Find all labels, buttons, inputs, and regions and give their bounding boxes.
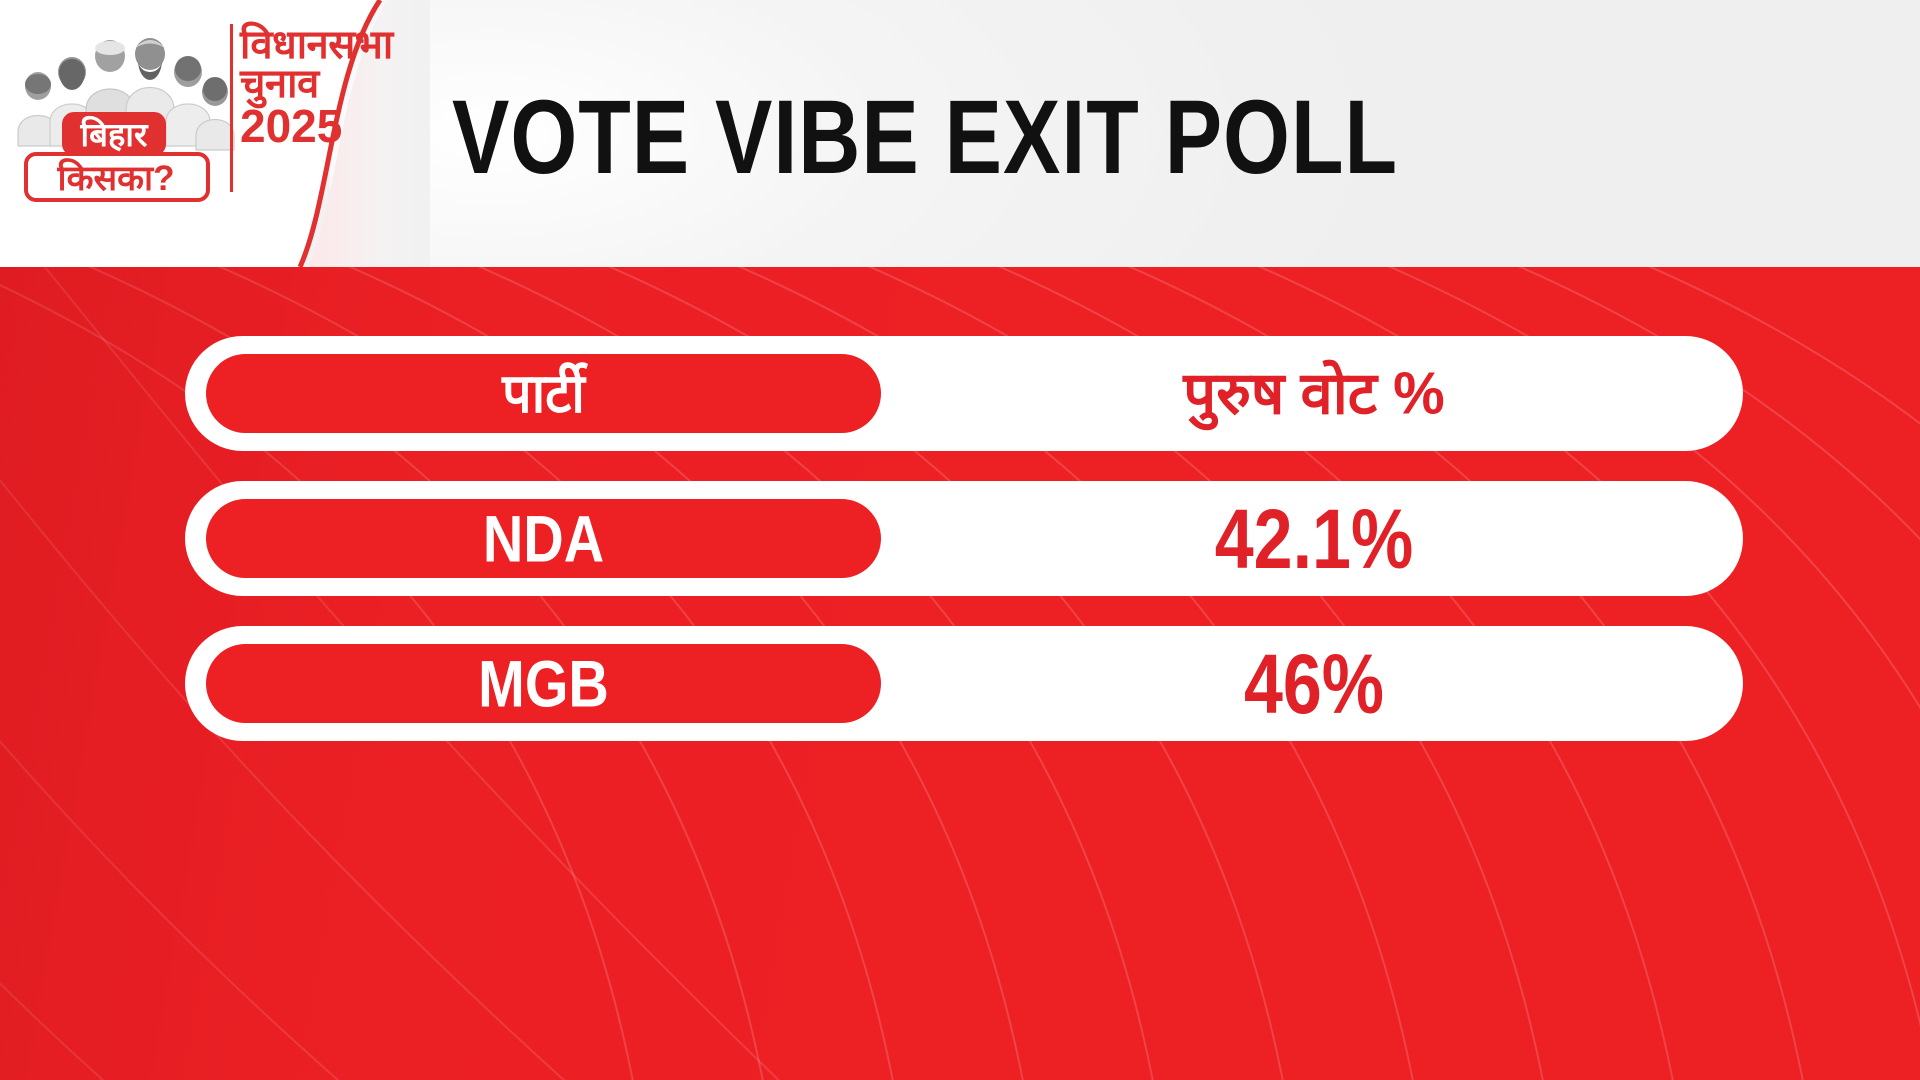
row-cell-value-nda: 42.1% bbox=[885, 481, 1743, 596]
header-label-value: पुरुष वोट % bbox=[1183, 364, 1444, 423]
row-cell-party-mgb: MGB bbox=[201, 639, 886, 728]
bihar-kiska-logo: बिहार किस​का? bbox=[10, 14, 235, 214]
value-label-nda: 42.1% bbox=[1215, 497, 1413, 581]
logo-divider bbox=[230, 24, 233, 192]
header-cell-party: पार्टी bbox=[201, 349, 886, 438]
logo-brand-line1: बिहार bbox=[80, 115, 149, 153]
election-year: 2025 bbox=[240, 104, 370, 149]
table-header-row: पार्टी पुरुष वोट % bbox=[185, 336, 1743, 451]
party-label-mgb: MGB bbox=[478, 650, 609, 716]
logo-artwork-icon: बिहार किस​का? bbox=[10, 14, 235, 214]
header-cell-value: पुरुष वोट % bbox=[885, 336, 1743, 451]
exit-poll-table: पार्टी पुरुष वोट % NDA 42.1% MGB 46% bbox=[185, 336, 1743, 771]
election-line1: विधानसभा bbox=[240, 26, 370, 65]
page-title: VOTE VIBE EXIT POLL bbox=[452, 78, 1398, 199]
election-line2: चुनाव bbox=[240, 65, 370, 104]
header-label-party: पार्टी bbox=[502, 366, 585, 421]
table-row: MGB 46% bbox=[185, 626, 1743, 741]
table-row: NDA 42.1% bbox=[185, 481, 1743, 596]
row-cell-value-mgb: 46% bbox=[885, 626, 1743, 741]
header-band: बिहार किस​का? विधानसभा चुनाव 2025 VOTE V… bbox=[0, 0, 1920, 267]
row-cell-party-nda: NDA bbox=[201, 494, 886, 583]
value-label-mgb: 46% bbox=[1244, 642, 1384, 726]
logo-brand-line2: किस​का? bbox=[57, 158, 175, 198]
election-label: विधानसभा चुनाव 2025 bbox=[240, 26, 370, 149]
logo-panel: बिहार किस​का? विधानसभा चुनाव 2025 bbox=[0, 0, 430, 267]
party-label-nda: NDA bbox=[483, 505, 604, 571]
